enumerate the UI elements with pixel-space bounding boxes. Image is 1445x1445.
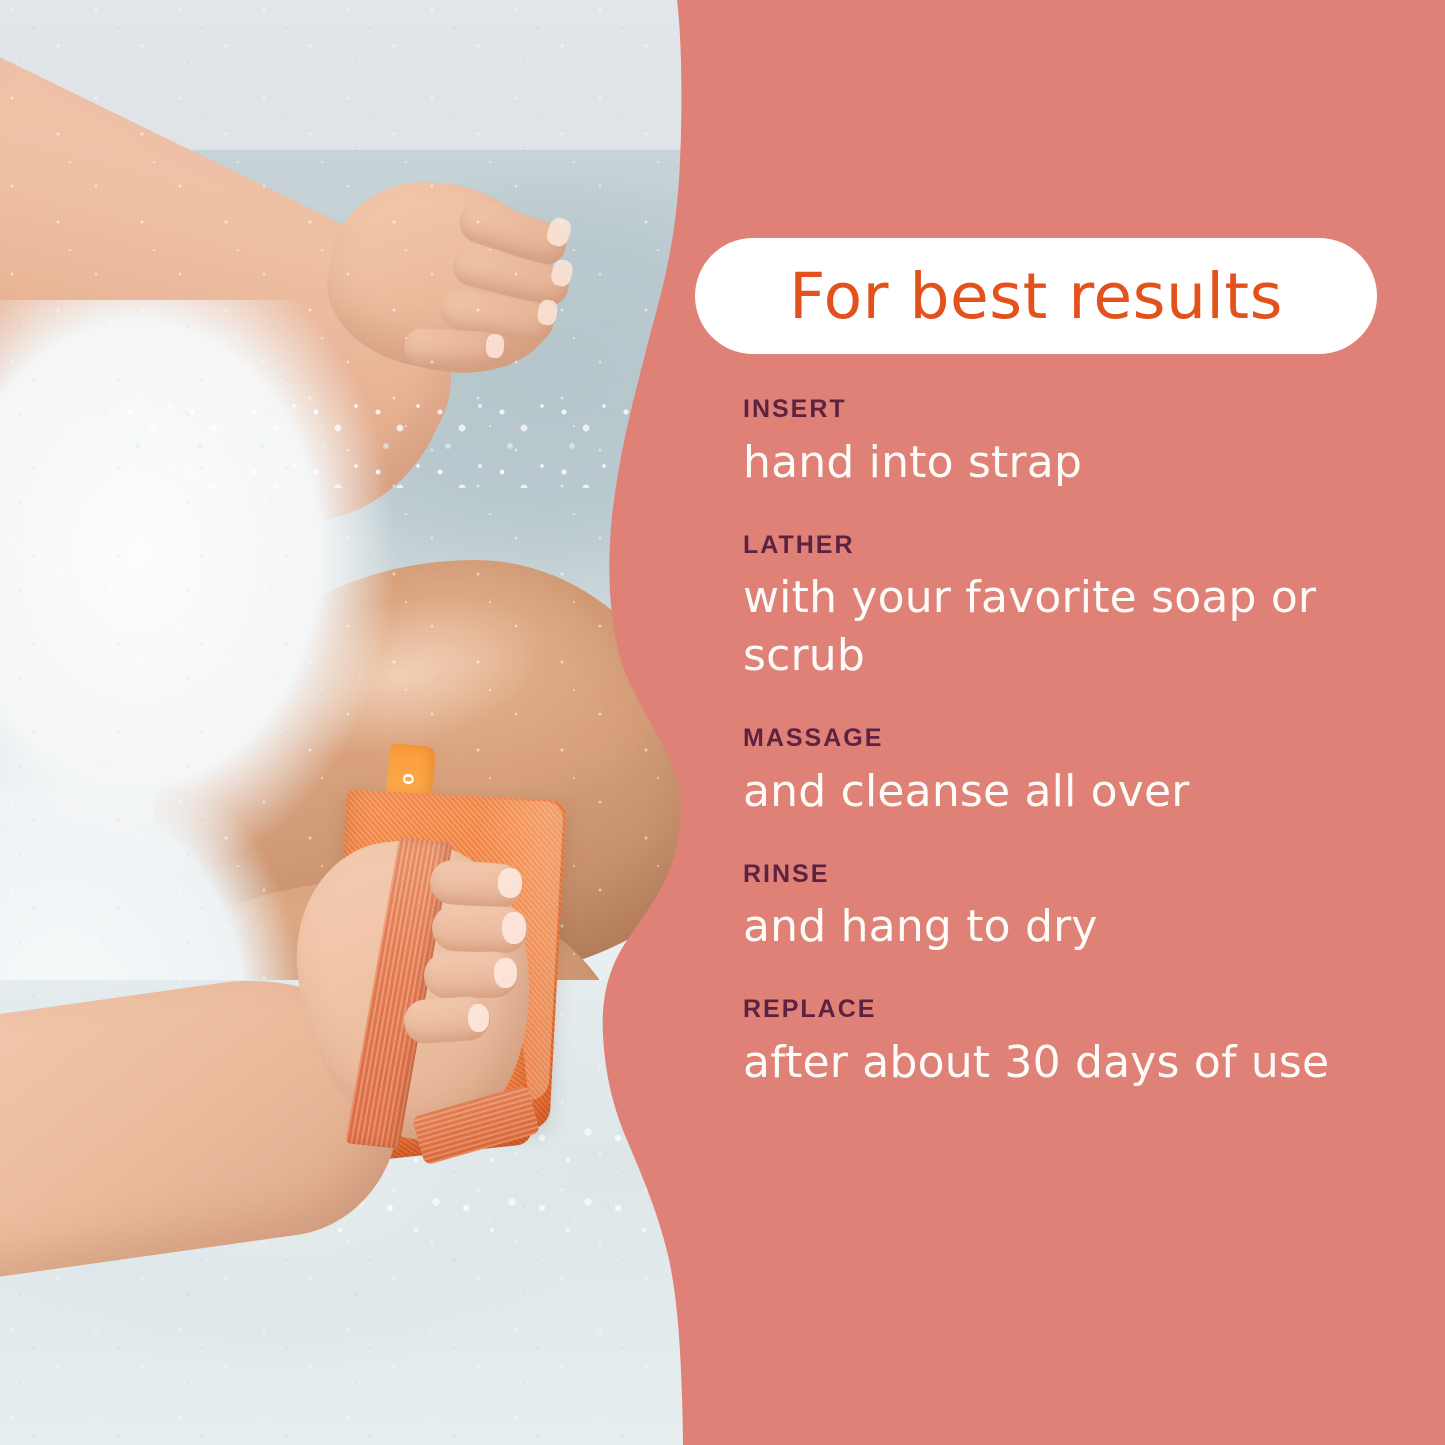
step-text: and cleanse all over [743,763,1398,821]
step-item: REPLACE after about 30 days of use [743,996,1433,1092]
step-label: REPLACE [743,996,1433,1024]
step-text: hand into strap [743,434,1398,492]
fingernail [468,1004,489,1032]
bath-photo: o [0,0,700,1445]
step-item: LATHER with your favorite soap or scrub [743,532,1433,686]
page-title: For best results [789,265,1283,328]
title-pill: For best results [695,238,1377,354]
instructions-panel: For best results INSERT hand into strap … [695,0,1445,1445]
step-item: INSERT hand into strap [743,396,1433,492]
steps-list: INSERT hand into strap LATHER with your … [743,396,1433,1092]
step-label: RINSE [743,861,1433,889]
step-text: after about 30 days of use [743,1034,1398,1092]
fingernail [498,868,522,898]
step-text: and hang to dry [743,898,1398,956]
step-label: INSERT [743,396,1433,424]
brand-mark-icon: o [397,758,420,785]
product-infographic: o For best results INSERT hand into [0,0,1445,1445]
fingernail [494,958,517,988]
step-text: with your favorite soap or scrub [743,569,1398,685]
step-label: LATHER [743,532,1433,560]
step-label: MASSAGE [743,725,1433,753]
fingernail [502,912,526,944]
step-item: MASSAGE and cleanse all over [743,725,1433,821]
step-item: RINSE and hang to dry [743,861,1433,957]
